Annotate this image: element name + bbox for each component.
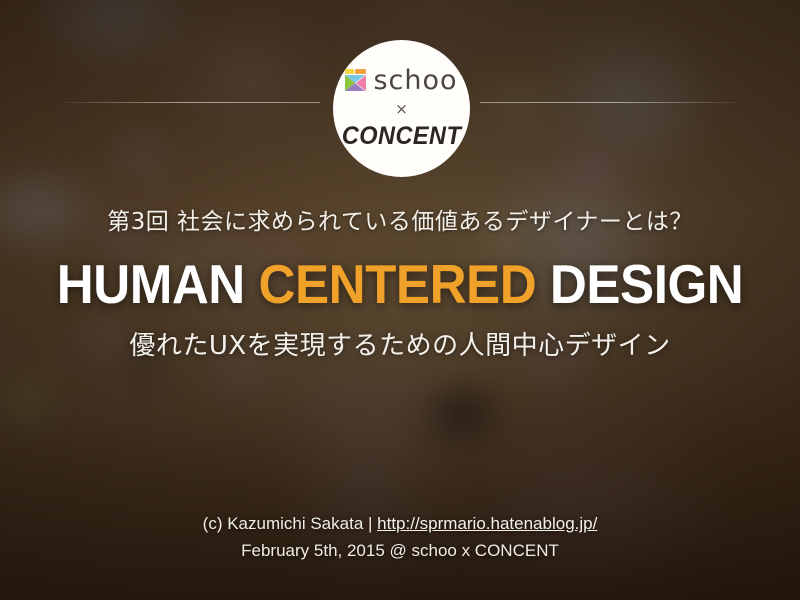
- schoo-lockup: schoo: [345, 67, 457, 94]
- blog-url-link[interactable]: http://sprmario.hatenablog.jp/: [377, 514, 597, 533]
- divider-rule-left: [62, 102, 320, 103]
- headline-part-1: HUMAN: [57, 253, 259, 315]
- slide-subhead: 優れたUXを実現するための人間中心デザイン: [0, 325, 800, 362]
- cross-icon: ×: [395, 102, 408, 117]
- credit-text: (c) Kazumichi Sakata |: [203, 514, 377, 533]
- slide-copy-block: 第3回 社会に求められている価値あるデザイナーとは？ HUMAN CENTERE…: [0, 208, 800, 362]
- divider-rule-right: [480, 102, 738, 103]
- schoo-wordmark: schoo: [373, 67, 457, 94]
- session-eyebrow: 第3回 社会に求められている価値あるデザイナーとは？: [0, 208, 800, 238]
- event-line: February 5th, 2015 @ schoo x CONCENT: [0, 538, 800, 564]
- slide-headline: HUMAN CENTERED DESIGN: [28, 256, 772, 313]
- brand-badge: schoo × CONCENT: [333, 40, 470, 177]
- title-slide: schoo × CONCENT 第3回 社会に求められている価値あるデザイナーと…: [0, 0, 800, 600]
- concent-wordmark: CONCENT: [342, 124, 461, 149]
- slide-footer: (c) Kazumichi Sakata | http://sprmario.h…: [0, 511, 800, 564]
- headline-part-2: DESIGN: [536, 253, 743, 315]
- headline-accent-word: CENTERED: [259, 253, 537, 315]
- schoo-logo-icon: [345, 69, 366, 91]
